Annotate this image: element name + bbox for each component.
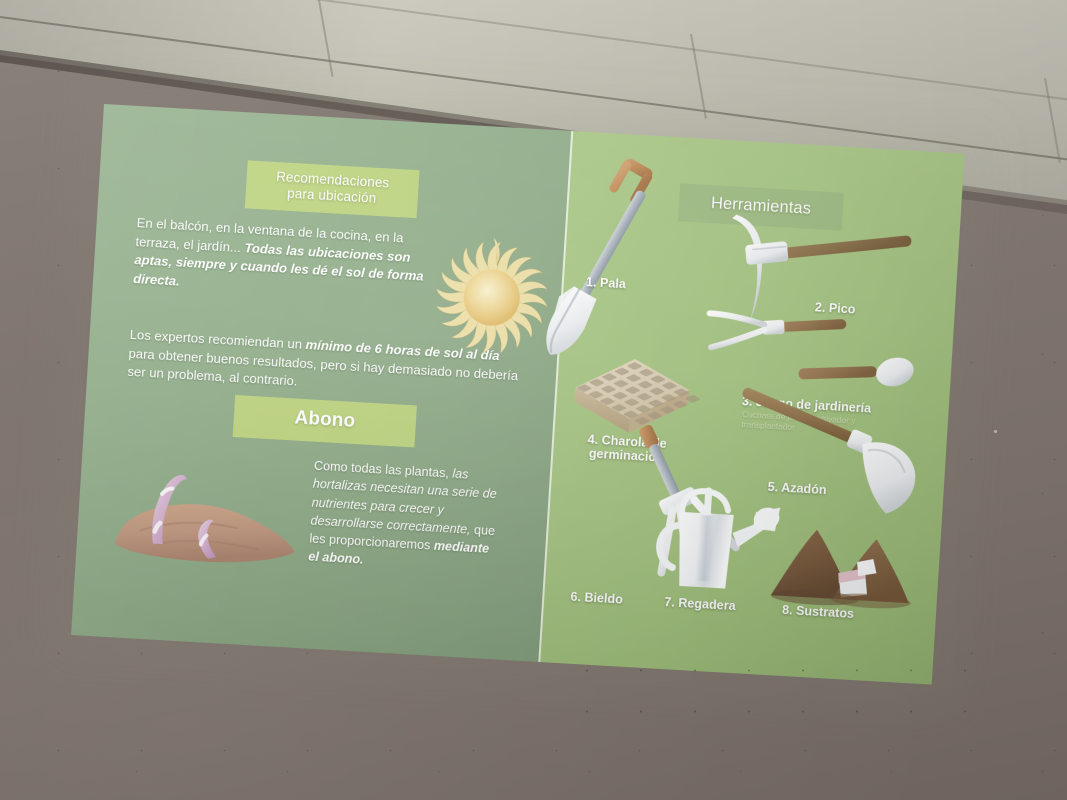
projected-slide: Recomendaciones para ubicación En el bal… <box>71 104 965 685</box>
abono-banner: Abono <box>233 395 417 448</box>
wall-dust-specks <box>560 650 980 740</box>
sun-rays <box>425 231 559 364</box>
substrate-mounds-icon <box>770 511 915 611</box>
tool-label-bieldo: 6. Bieldo <box>570 590 623 607</box>
location-paragraph: En el balcón, en la ventana de la cocina… <box>133 214 442 306</box>
soil-mound-with-worms <box>107 457 313 578</box>
recommendations-banner: Recomendaciones para ubicación <box>245 160 420 218</box>
abono-paragraph: Como todas las plantas, las hortalizas n… <box>308 457 504 577</box>
tool-label-sustratos: 8. Sustratos <box>782 603 855 622</box>
tool-label-pala: 1. Pala <box>586 275 627 292</box>
wall-dust-speck-single <box>994 430 997 433</box>
tool-label-regadera: 7. Regadera <box>664 595 736 614</box>
watering-can-icon <box>643 466 791 602</box>
screenshot-root: Recomendaciones para ubicación En el bal… <box>0 0 1067 800</box>
slide-left-panel: Recomendaciones para ubicación En el bal… <box>71 104 571 662</box>
slide-right-panel: Herramientas <box>538 131 964 685</box>
